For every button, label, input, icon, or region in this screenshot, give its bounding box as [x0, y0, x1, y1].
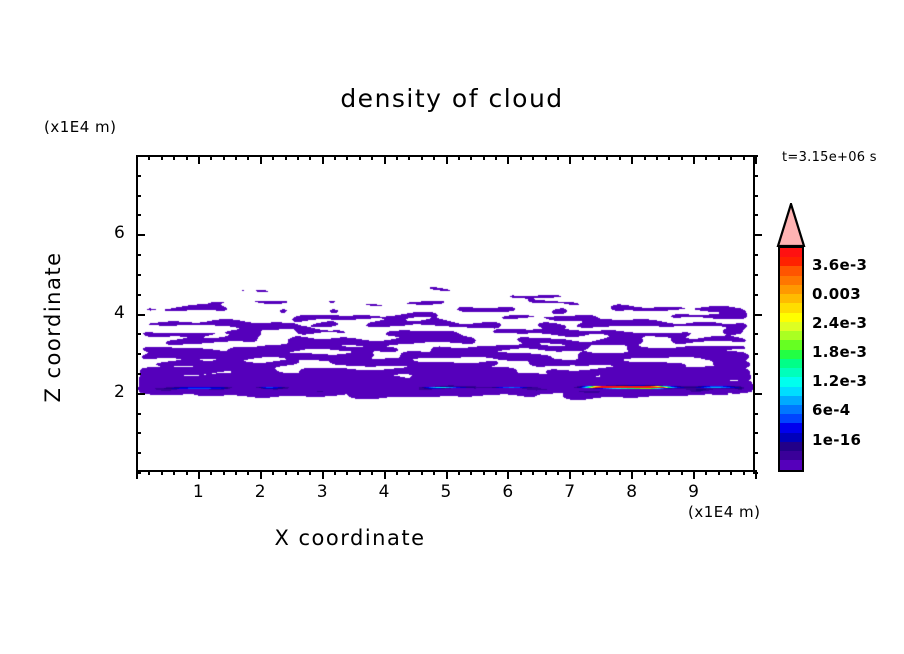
axis-tick: [557, 155, 559, 160]
axis-tick: [235, 470, 237, 475]
axis-tick: [753, 274, 758, 276]
axis-tick: [644, 470, 646, 475]
axis-tick: [285, 155, 287, 160]
axis-tick: [322, 155, 324, 164]
axis-tick: [136, 155, 141, 157]
time-annotation: t=3.15e+06 s: [782, 150, 877, 165]
axis-tick: [136, 214, 141, 216]
axis-tick: [396, 155, 398, 160]
colorbar-tick-label: 1.2e-3: [812, 372, 867, 390]
axis-tick: [136, 333, 141, 335]
axis-tick: [582, 155, 584, 160]
axis-tick: [446, 470, 448, 479]
colorbar-band: [780, 387, 802, 396]
colorbar-arrow-icon: [776, 203, 806, 247]
axis-tick: [753, 472, 758, 474]
axis-tick: [644, 155, 646, 160]
colorbar-band: [780, 276, 802, 285]
colorbar-band: [780, 368, 802, 377]
axis-tick: [753, 214, 758, 216]
contour-field: [138, 157, 753, 470]
axis-tick: [681, 470, 683, 475]
axis-tick: [619, 155, 621, 160]
x-tick-label: 2: [255, 482, 266, 502]
axis-tick: [753, 294, 758, 296]
axis-tick: [334, 470, 336, 475]
colorbar-band: [780, 423, 802, 432]
axis-tick: [569, 155, 571, 164]
axis-tick: [223, 470, 225, 475]
axis-tick: [371, 470, 373, 475]
axis-tick: [136, 413, 141, 415]
axis-tick: [297, 155, 299, 160]
x-axis-unit-label: (x1E4 m): [688, 503, 761, 521]
axis-tick: [210, 470, 212, 475]
colorbar-band: [780, 350, 802, 359]
plot-area: [136, 155, 755, 472]
colorbar-band: [780, 359, 802, 368]
colorbar-band: [780, 451, 802, 460]
axis-tick: [718, 155, 720, 160]
axis-tick: [532, 470, 534, 475]
x-tick-label: 8: [626, 482, 637, 502]
y-axis-title: Z coordinate: [41, 217, 65, 437]
axis-tick: [681, 155, 683, 160]
axis-tick: [346, 155, 348, 160]
axis-tick: [753, 314, 762, 316]
axis-tick: [421, 155, 423, 160]
axis-tick: [753, 353, 758, 355]
axis-tick: [136, 294, 141, 296]
axis-tick: [247, 155, 249, 160]
axis-tick: [730, 470, 732, 475]
axis-tick: [753, 452, 758, 454]
colorbar-band: [780, 294, 802, 303]
axis-tick: [260, 470, 262, 479]
axis-tick: [136, 393, 145, 395]
x-tick-label: 5: [441, 482, 452, 502]
axis-tick: [705, 470, 707, 475]
axis-tick: [136, 254, 141, 256]
axis-tick: [210, 155, 212, 160]
axis-tick: [631, 155, 633, 164]
axis-tick: [545, 470, 547, 475]
axis-tick: [470, 470, 472, 475]
axis-tick: [606, 470, 608, 475]
axis-tick: [743, 470, 745, 475]
axis-tick: [693, 155, 695, 164]
colorbar-band: [780, 433, 802, 442]
axis-tick: [495, 470, 497, 475]
colorbar-band: [780, 322, 802, 331]
x-axis-title: X coordinate: [0, 526, 700, 550]
axis-tick: [668, 470, 670, 475]
axis-tick: [446, 155, 448, 164]
axis-tick: [371, 155, 373, 160]
axis-tick: [557, 470, 559, 475]
colorbar-tick-label: 6e-4: [812, 401, 850, 419]
axis-tick: [594, 155, 596, 160]
axis-tick: [743, 155, 745, 160]
colorbar-band: [780, 313, 802, 322]
axis-tick: [668, 155, 670, 160]
colorbar-band: [780, 405, 802, 414]
axis-tick: [470, 155, 472, 160]
axis-tick: [136, 274, 141, 276]
axis-tick: [569, 470, 571, 479]
axis-tick: [235, 155, 237, 160]
axis-tick: [136, 452, 141, 454]
axis-tick: [359, 155, 361, 160]
axis-tick: [753, 432, 758, 434]
colorbar-band: [780, 396, 802, 405]
colorbar-band: [780, 377, 802, 386]
axis-tick: [173, 470, 175, 475]
axis-tick: [396, 470, 398, 475]
axis-tick: [507, 470, 509, 479]
axis-tick: [173, 155, 175, 160]
axis-tick: [421, 470, 423, 475]
axis-tick: [730, 155, 732, 160]
colorbar-band: [780, 414, 802, 423]
axis-tick: [582, 470, 584, 475]
colorbar-band: [780, 257, 802, 266]
y-axis-unit-label: (x1E4 m): [44, 118, 117, 136]
axis-tick: [260, 155, 262, 164]
x-tick-label: 7: [564, 482, 575, 502]
axis-tick: [161, 470, 163, 475]
axis-tick: [136, 195, 141, 197]
y-tick-label: 2: [114, 382, 125, 402]
axis-tick: [520, 155, 522, 160]
colorbar-band: [780, 442, 802, 451]
axis-tick: [705, 155, 707, 160]
x-tick-label: 3: [317, 482, 328, 502]
colorbar-tick-label: 3.6e-3: [812, 256, 867, 274]
axis-tick: [656, 155, 658, 160]
axis-tick: [198, 470, 200, 479]
axis-tick: [148, 155, 150, 160]
axis-tick: [753, 333, 758, 335]
axis-tick: [186, 155, 188, 160]
colorbar[interactable]: [778, 246, 804, 472]
axis-tick: [247, 470, 249, 475]
axis-tick: [753, 175, 758, 177]
y-tick-label: 4: [114, 303, 125, 323]
colorbar-band: [780, 460, 802, 469]
axis-tick: [631, 470, 633, 479]
axis-tick: [606, 155, 608, 160]
colorbar-band: [780, 266, 802, 275]
axis-tick: [718, 470, 720, 475]
x-tick-label: 1: [193, 482, 204, 502]
axis-tick: [136, 432, 141, 434]
colorbar-tick-label: 1.8e-3: [812, 343, 867, 361]
axis-tick: [693, 470, 695, 479]
axis-tick: [136, 373, 141, 375]
axis-tick: [148, 470, 150, 475]
colorbar-band: [780, 303, 802, 312]
axis-tick: [483, 155, 485, 160]
axis-tick: [433, 470, 435, 475]
axis-tick: [753, 413, 758, 415]
axis-tick: [753, 195, 758, 197]
page-title: density of cloud: [0, 84, 904, 113]
axis-tick: [136, 234, 145, 236]
x-tick-label: 4: [379, 482, 390, 502]
colorbar-tick-label: 0.003: [812, 285, 861, 303]
axis-tick: [507, 155, 509, 164]
axis-tick: [285, 470, 287, 475]
colorbar-band: [780, 285, 802, 294]
axis-tick: [495, 155, 497, 160]
colorbar-tick-label: 2.4e-3: [812, 314, 867, 332]
y-tick-label: 6: [114, 223, 125, 243]
axis-tick: [753, 234, 762, 236]
axis-tick: [334, 155, 336, 160]
axis-tick: [458, 470, 460, 475]
axis-tick: [223, 155, 225, 160]
axis-tick: [136, 472, 141, 474]
axis-tick: [309, 155, 311, 160]
axis-tick: [753, 373, 758, 375]
axis-tick: [136, 314, 145, 316]
axis-tick: [408, 155, 410, 160]
colorbar-band: [780, 248, 802, 257]
x-tick-label: 6: [502, 482, 513, 502]
axis-tick: [545, 155, 547, 160]
axis-tick: [433, 155, 435, 160]
axis-tick: [483, 470, 485, 475]
axis-tick: [322, 470, 324, 479]
axis-tick: [408, 470, 410, 475]
axis-tick: [458, 155, 460, 160]
axis-tick: [136, 175, 141, 177]
axis-tick: [520, 470, 522, 475]
axis-tick: [619, 470, 621, 475]
colorbar-tick-label: 1e-16: [812, 431, 861, 449]
axis-tick: [359, 470, 361, 475]
axis-tick: [532, 155, 534, 160]
axis-tick: [186, 470, 188, 475]
axis-tick: [753, 155, 758, 157]
axis-tick: [272, 155, 274, 160]
axis-tick: [297, 470, 299, 475]
colorbar-band: [780, 340, 802, 349]
axis-tick: [198, 155, 200, 164]
axis-tick: [753, 393, 762, 395]
axis-tick: [309, 470, 311, 475]
x-tick-label: 9: [688, 482, 699, 502]
colorbar-band: [780, 331, 802, 340]
axis-tick: [161, 155, 163, 160]
axis-tick: [594, 470, 596, 475]
axis-tick: [384, 470, 386, 479]
axis-tick: [384, 155, 386, 164]
axis-tick: [753, 254, 758, 256]
axis-tick: [136, 353, 141, 355]
axis-tick: [656, 470, 658, 475]
axis-tick: [272, 470, 274, 475]
axis-tick: [346, 470, 348, 475]
